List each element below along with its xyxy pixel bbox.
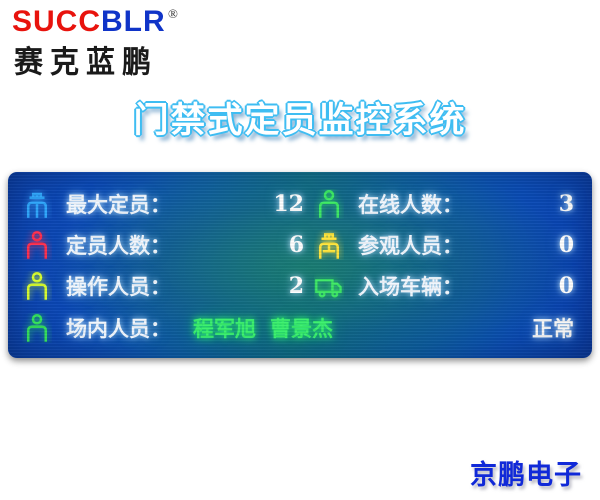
led-cell-operator-count: 操作人员： 2 bbox=[22, 271, 314, 301]
page-title: 门禁式定员监控系统 bbox=[0, 92, 600, 143]
led-label: 参观人员： bbox=[358, 230, 463, 260]
person-green-icon bbox=[22, 313, 52, 343]
led-cell-assigned-count: 定员人数： 6 bbox=[22, 230, 314, 260]
led-value: 2 bbox=[289, 273, 314, 299]
logo-wordmark-succ: SUCC bbox=[12, 5, 101, 38]
led-row-onsite-personnel: 场内人员： 程军旭曹景杰 正常 bbox=[22, 306, 578, 350]
registered-trademark-icon: ® bbox=[168, 6, 178, 22]
led-value: 3 bbox=[559, 191, 578, 217]
led-label: 最大定员： bbox=[66, 189, 171, 219]
led-label: 在线人数： bbox=[358, 189, 463, 219]
led-content-grid: 最大定员： 12 在线人数： 3 bbox=[8, 172, 592, 358]
logo-wordmark-blr: BLR bbox=[101, 5, 166, 38]
person-yellow-icon bbox=[22, 271, 52, 301]
led-value: 0 bbox=[559, 273, 578, 299]
led-row: 最大定员： 12 在线人数： 3 bbox=[22, 183, 578, 224]
led-cell-vehicle-count: 入场车辆： 0 bbox=[314, 271, 578, 301]
company-logo: SUCCBLR ® 赛克蓝鹏 bbox=[8, 4, 208, 76]
led-row: 定员人数： 6 参观人员： 0 bbox=[22, 224, 578, 265]
led-label: 入场车辆： bbox=[358, 271, 463, 301]
led-onsite-name: 程军旭 bbox=[193, 317, 256, 341]
led-display-panel: 最大定员： 12 在线人数： 3 bbox=[8, 172, 592, 358]
led-value: 12 bbox=[273, 191, 314, 217]
person-green-icon bbox=[314, 189, 344, 219]
led-row: 操作人员： 2 入场车辆： 0 bbox=[22, 265, 578, 306]
led-cell-online-count: 在线人数： 3 bbox=[314, 189, 578, 219]
led-value: 6 bbox=[289, 232, 314, 258]
led-onsite-name-list: 程军旭曹景杰 bbox=[193, 313, 333, 343]
person-hat-blue-icon bbox=[22, 189, 52, 219]
truck-green-icon bbox=[314, 271, 344, 301]
person-red-icon bbox=[22, 230, 52, 260]
logo-chinese-name: 赛克蓝鹏 bbox=[14, 38, 158, 82]
led-label: 定员人数： bbox=[66, 230, 171, 260]
status-badge: 正常 bbox=[532, 313, 578, 343]
person-hat-yellow-icon bbox=[314, 230, 344, 260]
logo-wordmark: SUCCBLR bbox=[12, 6, 166, 38]
led-cell-max-capacity: 最大定员： 12 bbox=[22, 189, 314, 219]
led-cell-visitor-count: 参观人员： 0 bbox=[314, 230, 578, 260]
led-label-onsite: 场内人员： bbox=[66, 313, 171, 343]
footer-company-name: 京鹏电子 bbox=[470, 453, 582, 492]
led-label: 操作人员： bbox=[66, 271, 171, 301]
led-onsite-name: 曹景杰 bbox=[270, 317, 333, 341]
led-value: 0 bbox=[559, 232, 578, 258]
